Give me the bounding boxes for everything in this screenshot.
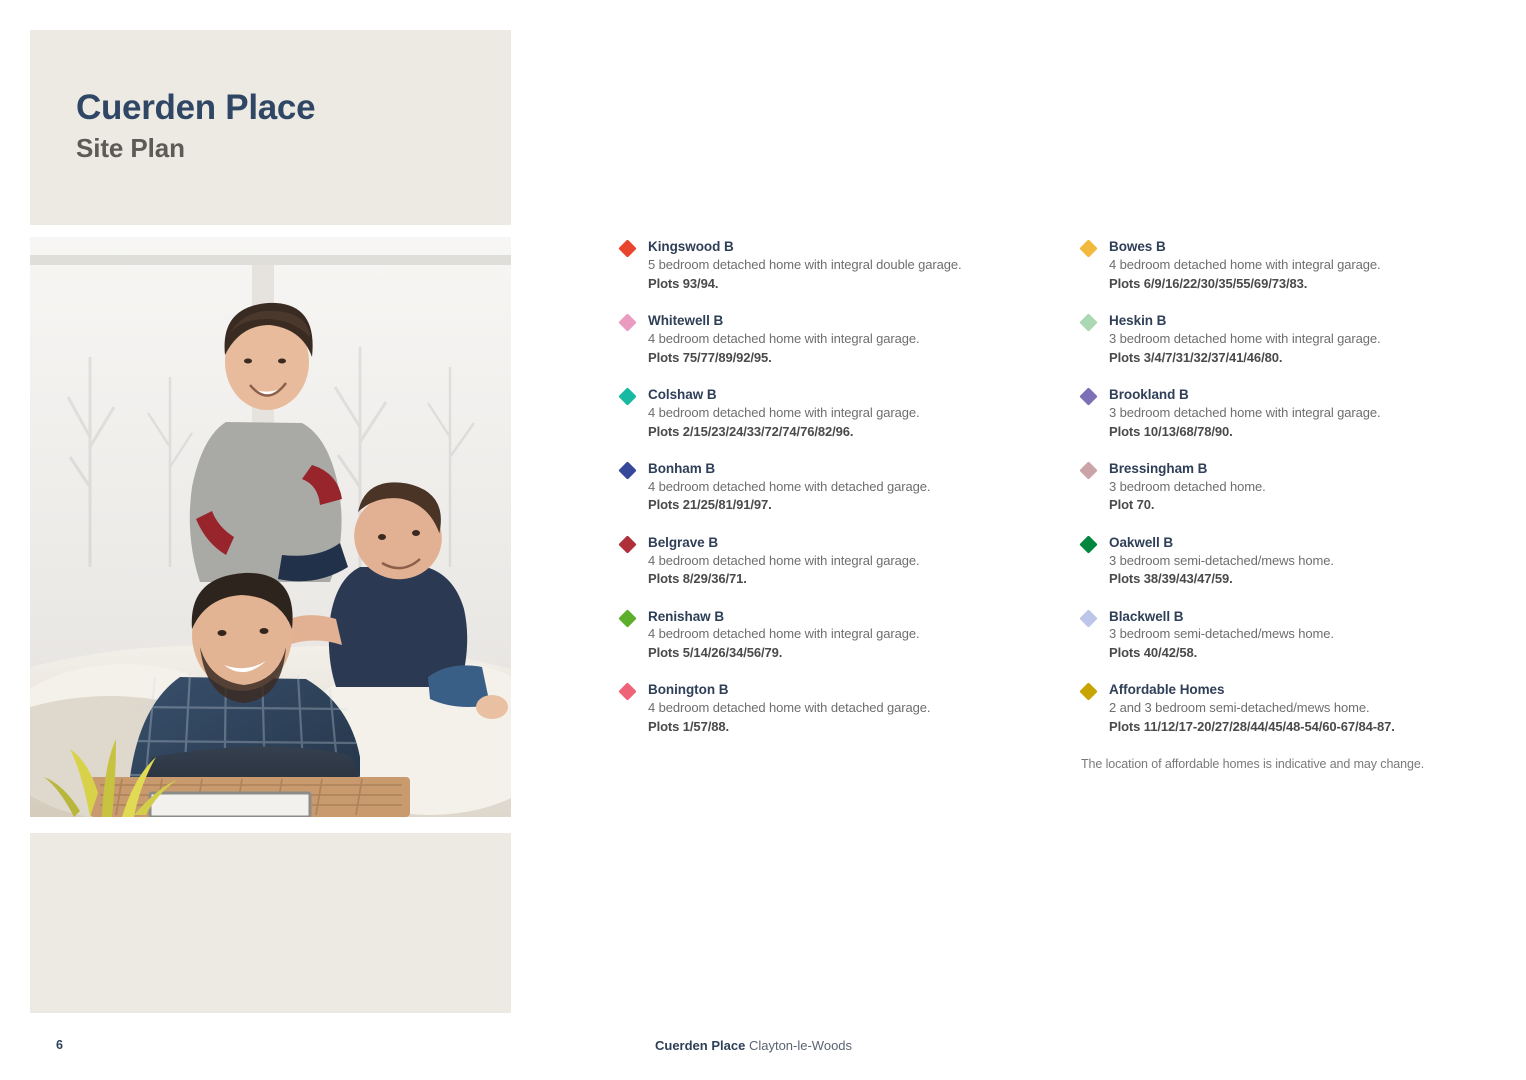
legend-item-name: Whitewell B bbox=[648, 313, 1019, 330]
photo-illustration bbox=[30, 237, 511, 817]
legend-item-description: 4 bedroom detached home with detached ga… bbox=[648, 478, 1019, 497]
diamond-swatch-icon bbox=[1079, 239, 1097, 257]
diamond-swatch-icon bbox=[618, 387, 636, 405]
diamond-swatch-icon bbox=[1079, 535, 1097, 553]
legend-column-left: Kingswood B 5 bedroom detached home with… bbox=[620, 239, 1019, 774]
legend-item-plots: Plots 2/15/23/24/33/72/74/76/82/96. bbox=[648, 423, 1019, 441]
legend-item[interactable]: Brookland B 3 bedroom detached home with… bbox=[1081, 387, 1480, 441]
legend-item-plots: Plots 6/9/16/22/30/35/55/69/73/83. bbox=[1109, 275, 1480, 293]
legend-item-description: 5 bedroom detached home with integral do… bbox=[648, 256, 1019, 275]
legend-item-description: 4 bedroom detached home with integral ga… bbox=[648, 625, 1019, 644]
legend-item[interactable]: Affordable Homes 2 and 3 bedroom semi-de… bbox=[1081, 682, 1480, 736]
diamond-swatch-icon bbox=[1079, 313, 1097, 331]
legend-item[interactable]: Colshaw B 4 bedroom detached home with i… bbox=[620, 387, 1019, 441]
legend-item-name: Belgrave B bbox=[648, 535, 1019, 552]
legend-item[interactable]: Bressingham B 3 bedroom detached home. P… bbox=[1081, 461, 1480, 515]
legend-item-plots: Plots 93/94. bbox=[648, 275, 1019, 293]
footer-brand-name: Cuerden Place bbox=[655, 1038, 745, 1053]
legend-item[interactable]: Renishaw B 4 bedroom detached home with … bbox=[620, 609, 1019, 663]
legend-item[interactable]: Whitewell B 4 bedroom detached home with… bbox=[620, 313, 1019, 367]
legend-item-name: Colshaw B bbox=[648, 387, 1019, 404]
legend-item[interactable]: Bonington B 4 bedroom detached home with… bbox=[620, 682, 1019, 736]
legend-item-name: Kingswood B bbox=[648, 239, 1019, 256]
legend-item-plots: Plots 8/29/36/71. bbox=[648, 570, 1019, 588]
diamond-swatch-icon bbox=[1079, 461, 1097, 479]
legend-item-description: 3 bedroom semi-detached/mews home. bbox=[1109, 625, 1480, 644]
diamond-swatch-icon bbox=[1079, 387, 1097, 405]
house-type-legend: Kingswood B 5 bedroom detached home with… bbox=[620, 239, 1480, 774]
diamond-swatch-icon bbox=[618, 239, 636, 257]
legend-item-description: 2 and 3 bedroom semi-detached/mews home. bbox=[1109, 699, 1480, 718]
title-block: Cuerden Place Site Plan bbox=[76, 88, 496, 164]
legend-item[interactable]: Belgrave B 4 bedroom detached home with … bbox=[620, 535, 1019, 589]
legend-item-plots: Plots 5/14/26/34/56/79. bbox=[648, 644, 1019, 662]
legend-item[interactable]: Bowes B 4 bedroom detached home with int… bbox=[1081, 239, 1480, 293]
diamond-swatch-icon bbox=[618, 313, 636, 331]
affordable-homes-note: The location of affordable homes is indi… bbox=[1081, 756, 1480, 774]
legend-item-plots: Plots 3/4/7/31/32/37/41/46/80. bbox=[1109, 349, 1480, 367]
legend-item-name: Bonham B bbox=[648, 461, 1019, 478]
legend-item-name: Heskin B bbox=[1109, 313, 1480, 330]
page-subtitle: Site Plan bbox=[76, 133, 496, 164]
legend-item-plots: Plots 21/25/81/91/97. bbox=[648, 496, 1019, 514]
legend-item-name: Bonington B bbox=[648, 682, 1019, 699]
footer-page-number: 6 bbox=[56, 1038, 63, 1052]
legend-item-name: Blackwell B bbox=[1109, 609, 1480, 626]
legend-item-plots: Plots 40/42/58. bbox=[1109, 644, 1480, 662]
legend-item[interactable]: Heskin B 3 bedroom detached home with in… bbox=[1081, 313, 1480, 367]
legend-item-name: Bressingham B bbox=[1109, 461, 1480, 478]
diamond-swatch-icon bbox=[618, 609, 636, 627]
legend-item-plots: Plots 10/13/68/78/90. bbox=[1109, 423, 1480, 441]
legend-item-name: Bowes B bbox=[1109, 239, 1480, 256]
legend-item-plots: Plots 1/57/88. bbox=[648, 718, 1019, 736]
legend-item-plots: Plots 11/12/17-20/27/28/44/45/48-54/60-6… bbox=[1109, 718, 1480, 736]
diamond-swatch-icon bbox=[1079, 609, 1097, 627]
legend-item-description: 4 bedroom detached home with detached ga… bbox=[648, 699, 1019, 718]
legend-item-name: Brookland B bbox=[1109, 387, 1480, 404]
legend-item-plots: Plots 75/77/89/92/95. bbox=[648, 349, 1019, 367]
footer-location: Clayton-le-Woods bbox=[749, 1038, 852, 1053]
legend-item[interactable]: Blackwell B 3 bedroom semi-detached/mews… bbox=[1081, 609, 1480, 663]
legend-item-description: 3 bedroom semi-detached/mews home. bbox=[1109, 552, 1480, 571]
legend-item-description: 4 bedroom detached home with integral ga… bbox=[1109, 256, 1480, 275]
legend-item-description: 4 bedroom detached home with integral ga… bbox=[648, 404, 1019, 423]
page-root: Cuerden Place Site Plan bbox=[0, 0, 1526, 1080]
legend-item[interactable]: Bonham B 4 bedroom detached home with de… bbox=[620, 461, 1019, 515]
legend-item-plots: Plot 70. bbox=[1109, 496, 1480, 514]
legend-item-description: 3 bedroom detached home. bbox=[1109, 478, 1480, 497]
legend-item-name: Affordable Homes bbox=[1109, 682, 1480, 699]
diamond-swatch-icon bbox=[618, 683, 636, 701]
diamond-swatch-icon bbox=[618, 461, 636, 479]
legend-item-plots: Plots 38/39/43/47/59. bbox=[1109, 570, 1480, 588]
diamond-swatch-icon bbox=[1079, 683, 1097, 701]
page-title: Cuerden Place bbox=[76, 88, 496, 128]
legend-item-description: 3 bedroom detached home with integral ga… bbox=[1109, 330, 1480, 349]
legend-item[interactable]: Oakwell B 3 bedroom semi-detached/mews h… bbox=[1081, 535, 1480, 589]
lifestyle-photo bbox=[30, 237, 511, 817]
legend-column-right: Bowes B 4 bedroom detached home with int… bbox=[1081, 239, 1480, 774]
legend-item-description: 4 bedroom detached home with integral ga… bbox=[648, 330, 1019, 349]
diamond-swatch-icon bbox=[618, 535, 636, 553]
legend-item-name: Oakwell B bbox=[1109, 535, 1480, 552]
legend-item-name: Renishaw B bbox=[648, 609, 1019, 626]
footer-brand-line: Cuerden Place Clayton-le-Woods bbox=[655, 1038, 852, 1053]
legend-item-description: 4 bedroom detached home with integral ga… bbox=[648, 552, 1019, 571]
legend-item-description: 3 bedroom detached home with integral ga… bbox=[1109, 404, 1480, 423]
legend-item[interactable]: Kingswood B 5 bedroom detached home with… bbox=[620, 239, 1019, 293]
bottom-panel bbox=[30, 833, 511, 1013]
